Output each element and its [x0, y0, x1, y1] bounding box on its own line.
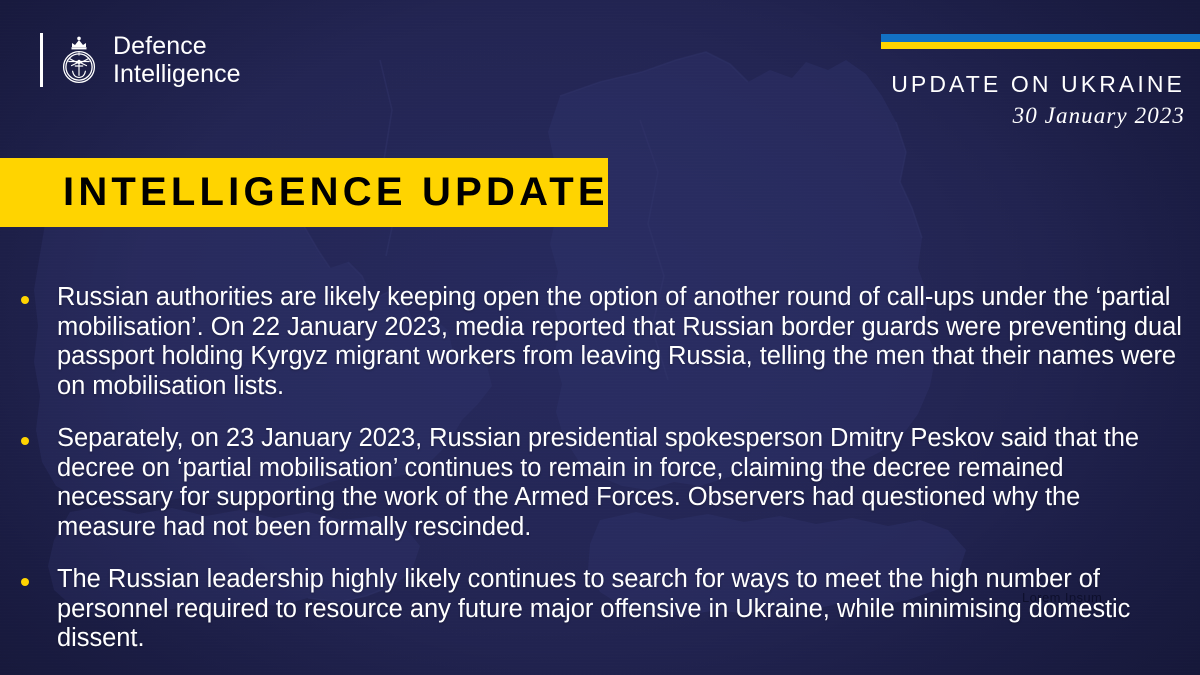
bullet-list: Russian authorities are likely keeping o… — [18, 283, 1186, 654]
bullet-dot-icon — [21, 437, 29, 445]
flag-stripe-yellow — [881, 42, 1200, 49]
flag-stripe-blue — [881, 34, 1200, 42]
bullet-item: Russian authorities are likely keeping o… — [18, 283, 1186, 401]
update-on-ukraine-title: UPDATE ON UKRAINE — [891, 71, 1185, 98]
banner-label: INTELLIGENCE UPDATE — [63, 170, 609, 215]
defence-intelligence-crest-icon — [57, 33, 101, 87]
bullet-text: Separately, on 23 January 2023, Russian … — [57, 424, 1186, 542]
logo-divider-rule — [40, 33, 43, 87]
bullet-dot-icon — [21, 296, 29, 304]
defence-intelligence-logo: Defence Intelligence — [40, 32, 241, 88]
bullet-text: The Russian leadership highly likely con… — [57, 565, 1186, 654]
organisation-name: Defence Intelligence — [113, 32, 241, 88]
update-date: 30 January 2023 — [1013, 103, 1185, 129]
ukraine-flag-bar — [881, 34, 1200, 49]
watermark-text: Lorem Ipsum — [1022, 590, 1102, 605]
bullet-item: The Russian leadership highly likely con… — [18, 565, 1186, 654]
bullet-text: Russian authorities are likely keeping o… — [57, 283, 1186, 401]
intelligence-update-poster: Defence Intelligence UPDATE ON UKRAINE 3… — [0, 0, 1200, 675]
intelligence-update-banner: INTELLIGENCE UPDATE — [0, 158, 608, 227]
bullet-dot-icon — [21, 578, 29, 586]
bullet-item: Separately, on 23 January 2023, Russian … — [18, 424, 1186, 542]
